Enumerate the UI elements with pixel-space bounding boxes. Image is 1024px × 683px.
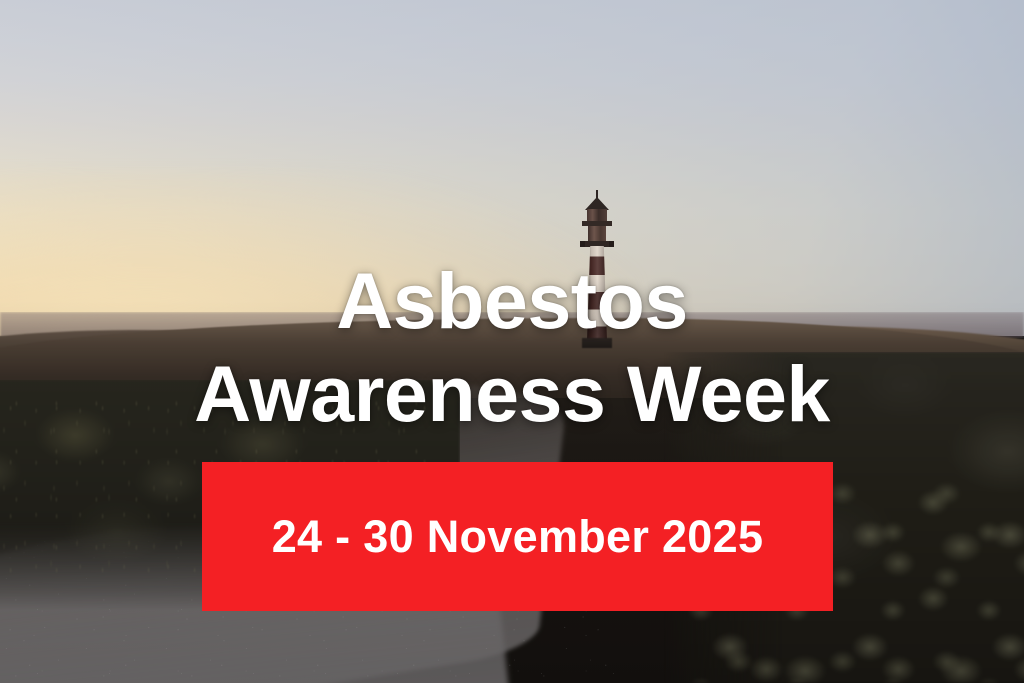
headline-line-2: Awareness Week [0, 354, 1024, 433]
asbestos-awareness-week-poster: Asbestos Awareness Week 24 - 30 November… [0, 0, 1024, 683]
date-banner: 24 - 30 November 2025 [202, 462, 833, 611]
headline-line-1: Asbestos [0, 261, 1024, 340]
date-range-label: 24 - 30 November 2025 [272, 514, 764, 559]
text-overlay: Asbestos Awareness Week 24 - 30 November… [0, 0, 1024, 683]
